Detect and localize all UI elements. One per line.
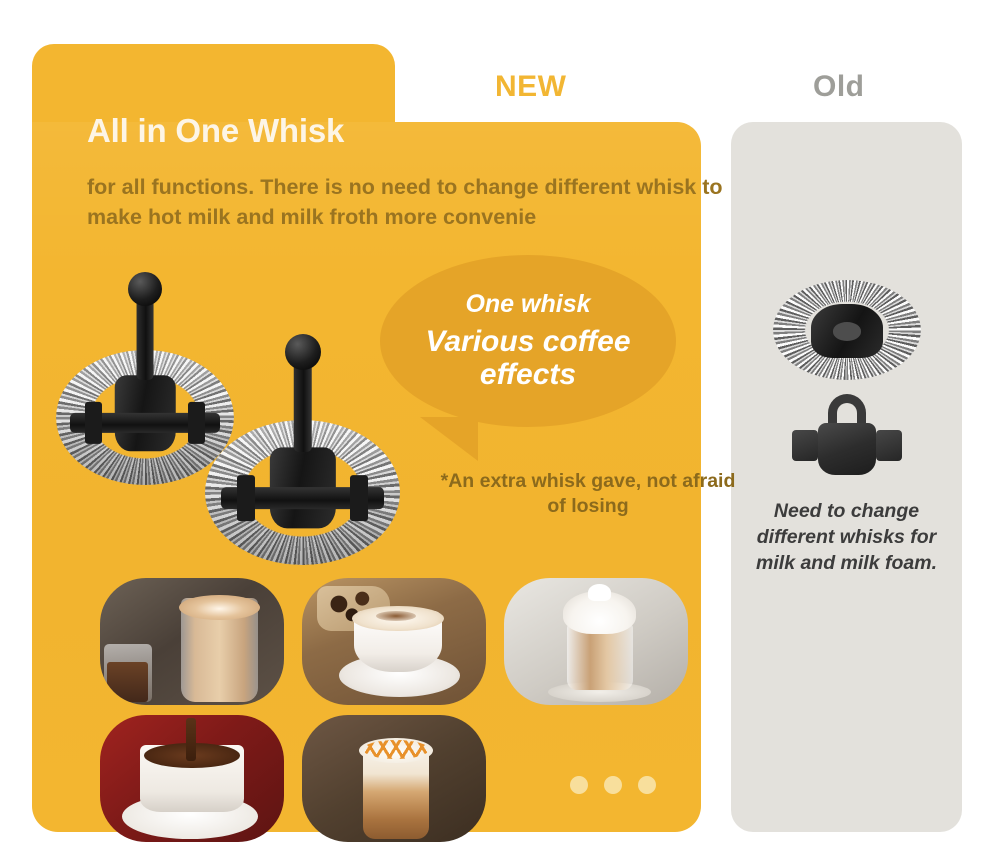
old-panel-description: Need to change different whisks for milk… — [741, 498, 952, 576]
carousel-dot-2[interactable] — [604, 776, 622, 794]
page-title: All in One Whisk — [87, 112, 344, 150]
coffee-thumbnail-cappuccino[interactable] — [302, 578, 486, 705]
caramel-macchiato-scene — [302, 715, 486, 842]
carousel-dot-3[interactable] — [638, 776, 656, 794]
panel-description: for all functions. There is no need to c… — [87, 172, 737, 232]
all-in-one-whisk-illustration-secondary — [205, 420, 400, 565]
old-product-panel: Need to change different whisks for milk… — [731, 122, 962, 832]
speech-bubble-line-1: One whisk — [465, 291, 590, 319]
whisk-ball-knob — [128, 272, 162, 306]
old-spring-ring-whisk-illustration — [773, 280, 921, 380]
speech-bubble-tail — [404, 417, 478, 461]
whipped-cream-swirl — [563, 591, 637, 634]
layered-latte-glass — [363, 751, 429, 840]
coffee-thumbnail-hot-chocolate[interactable] — [100, 715, 284, 842]
old-flat-stirrer-whisk-illustration — [787, 394, 907, 480]
carousel-dots[interactable] — [570, 776, 656, 794]
speech-bubble-line-2: Various coffee effects — [380, 325, 676, 391]
stirrer-wing-right — [876, 430, 902, 461]
stirrer-wing-left — [792, 430, 818, 461]
coffee-thumbnail-caramel-macchiato[interactable] — [302, 715, 486, 842]
whisk-ball-knob — [285, 334, 321, 370]
stirrer-body — [818, 423, 876, 475]
old-badge-label: Old — [813, 70, 865, 104]
coffee-thumbnail-whipped-cream[interactable] — [504, 578, 688, 705]
whipped-cream-scene — [504, 578, 688, 705]
hot-chocolate-scene — [100, 715, 284, 842]
new-product-panel: All in One Whisk for all functions. Ther… — [32, 44, 701, 832]
latte-art-scene — [100, 578, 284, 705]
coffee-thumbnail-latte-art[interactable] — [100, 578, 284, 705]
extra-whisk-note: *An extra whisk gave, not afraid of losi… — [438, 469, 738, 519]
whisk-crossbar — [70, 413, 220, 433]
whisk-crossbar — [221, 487, 385, 509]
cappuccino-scene — [302, 578, 486, 705]
carousel-dot-1[interactable] — [570, 776, 588, 794]
speech-bubble: One whisk Various coffee effects — [380, 255, 676, 427]
chocolate-pour-stream — [186, 718, 195, 761]
coffee-grounds-jar — [104, 644, 152, 702]
latte-art-crema — [179, 595, 260, 620]
old-whisk-hub — [811, 304, 882, 358]
